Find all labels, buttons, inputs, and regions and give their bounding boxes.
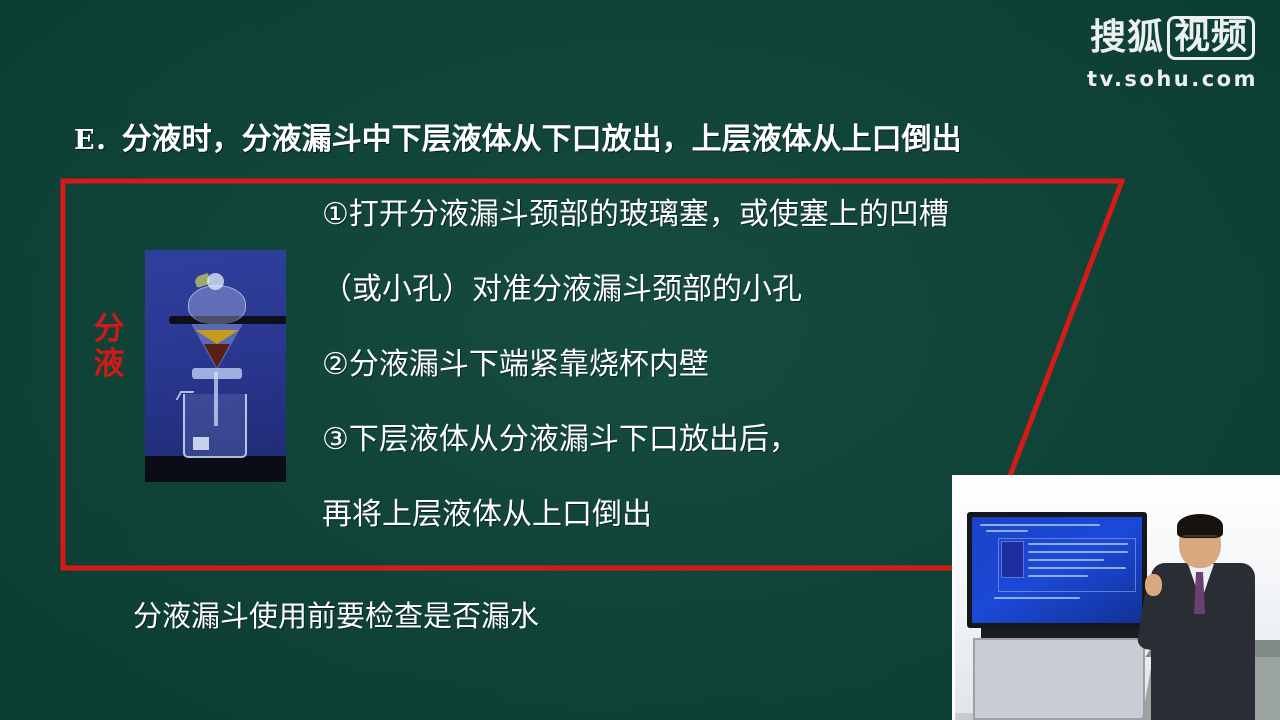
glass-stopper-icon (207, 273, 224, 290)
separatory-funnel-photo (145, 250, 286, 482)
body-line-4: ③下层液体从分液漏斗下口放出后， (322, 425, 949, 463)
lecturer-hand (1145, 574, 1162, 596)
lab-bench (145, 456, 286, 482)
slide-title-lead: E． (74, 125, 122, 156)
body-line-3: ②分液漏斗下端紧靠烧杯内壁 (322, 350, 949, 388)
beaker-label-icon (193, 437, 209, 450)
watermark-brand: 搜狐 视频 (1090, 16, 1255, 60)
footnote-text: 分液漏斗使用前要检查是否漏水 (133, 602, 539, 631)
upper-layer-liquid-icon (195, 330, 239, 344)
screen-body-line-4 (1028, 567, 1126, 569)
experiment-photo-block: 分液 (145, 250, 286, 482)
body-line-2: （或小孔）对准分液漏斗颈部的小孔 (322, 275, 949, 313)
classroom-display (967, 512, 1147, 628)
lecture-slide: 搜狐 视频 tv.sohu.com E．分液时，分液漏斗中下层液体从下口放出，上… (0, 0, 1280, 720)
display-screen (972, 517, 1142, 623)
screen-body-line-2 (1028, 551, 1128, 553)
glasses-icon (1183, 535, 1217, 545)
funnel-bulb-icon (188, 285, 246, 324)
sohu-video-watermark: 搜狐 视频 tv.sohu.com (1087, 16, 1258, 90)
body-line-1: ①打开分液漏斗颈部的玻璃塞，或使塞上的凹槽 (322, 200, 949, 238)
watermark-brand-prefix: 搜狐 (1090, 20, 1164, 56)
body-line-5: 再将上层液体从上口倒出 (322, 500, 949, 538)
screen-photo-thumb (1001, 541, 1024, 578)
screen-footnote-line (994, 597, 1080, 599)
screen-title-line (980, 524, 1100, 526)
body-text-block: ①打开分液漏斗颈部的玻璃塞，或使塞上的凹槽 （或小孔）对准分液漏斗颈部的小孔 ②… (322, 200, 949, 575)
slide-title: E．分液时，分液漏斗中下层液体从下口放出，上层液体从上口倒出 (74, 114, 962, 158)
tv-cart (973, 638, 1145, 720)
watermark-url: tv.sohu.com (1087, 69, 1258, 90)
screen-body-line-5 (1028, 575, 1088, 577)
funnel-stem-icon (214, 372, 218, 426)
screen-body-line-1 (1028, 543, 1128, 545)
tv-stand (985, 628, 1133, 638)
screen-title-line-2 (986, 530, 1028, 532)
slide-title-text: 分液时，分液漏斗中下层液体从下口放出，上层液体从上口倒出 (122, 122, 962, 157)
screen-body-line-3 (1028, 559, 1104, 561)
photo-caption-fenye: 分液 (87, 312, 131, 383)
lecturer-video-inset[interactable]: 高中化学 (952, 475, 1280, 720)
lower-layer-liquid-icon (204, 344, 230, 368)
watermark-brand-boxed: 视频 (1167, 16, 1255, 60)
